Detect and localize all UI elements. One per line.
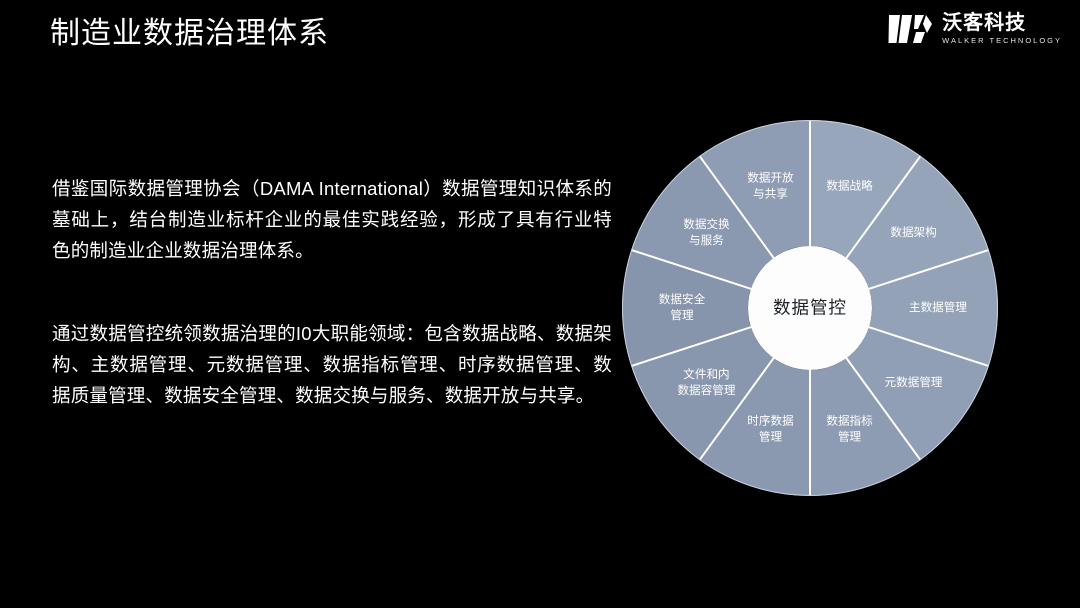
paragraph-domains: 通过数据管控统领数据治理的I0大职能领域：包含数据战略、数据架构、主数据管理、元… xyxy=(52,318,612,411)
logo-text-group: 沃客科技 WALKER TECHNOLOGY xyxy=(942,12,1062,46)
segment-label-master-data: 主数据管理 xyxy=(909,300,967,314)
segment-label-metadata: 元数据管理 xyxy=(885,375,943,389)
brand-logo: 沃客科技 WALKER TECHNOLOGY xyxy=(887,12,1062,46)
walker-w-mark-icon xyxy=(887,12,933,46)
slide-canvas: 制造业数据治理体系 沃客科技 WALKER TECHNOLOGY 借鉴国际数据管… xyxy=(0,0,1080,608)
logo-name-en: WALKER TECHNOLOGY xyxy=(942,36,1062,46)
segment-label-data-architecture: 数据架构 xyxy=(890,225,936,239)
paragraph-overview: 借鉴国际数据管理协会（DAMA International）数据管理知识体系的墓… xyxy=(52,173,612,266)
segment-label-data-strategy: 数据战略 xyxy=(826,178,873,192)
data-governance-donut-diagram: 数据管控 数据战略数据架构主数据管理元数据管理数据指标管理时序数据管理文件和内数… xyxy=(620,118,1000,498)
logo-name-cn: 沃客科技 xyxy=(942,12,1062,34)
page-title: 制造业数据治理体系 xyxy=(50,14,329,54)
donut-hub-label: 数据管控 xyxy=(773,298,847,318)
donut-svg: 数据管控 数据战略数据架构主数据管理元数据管理数据指标管理时序数据管理文件和内数… xyxy=(620,118,1000,498)
